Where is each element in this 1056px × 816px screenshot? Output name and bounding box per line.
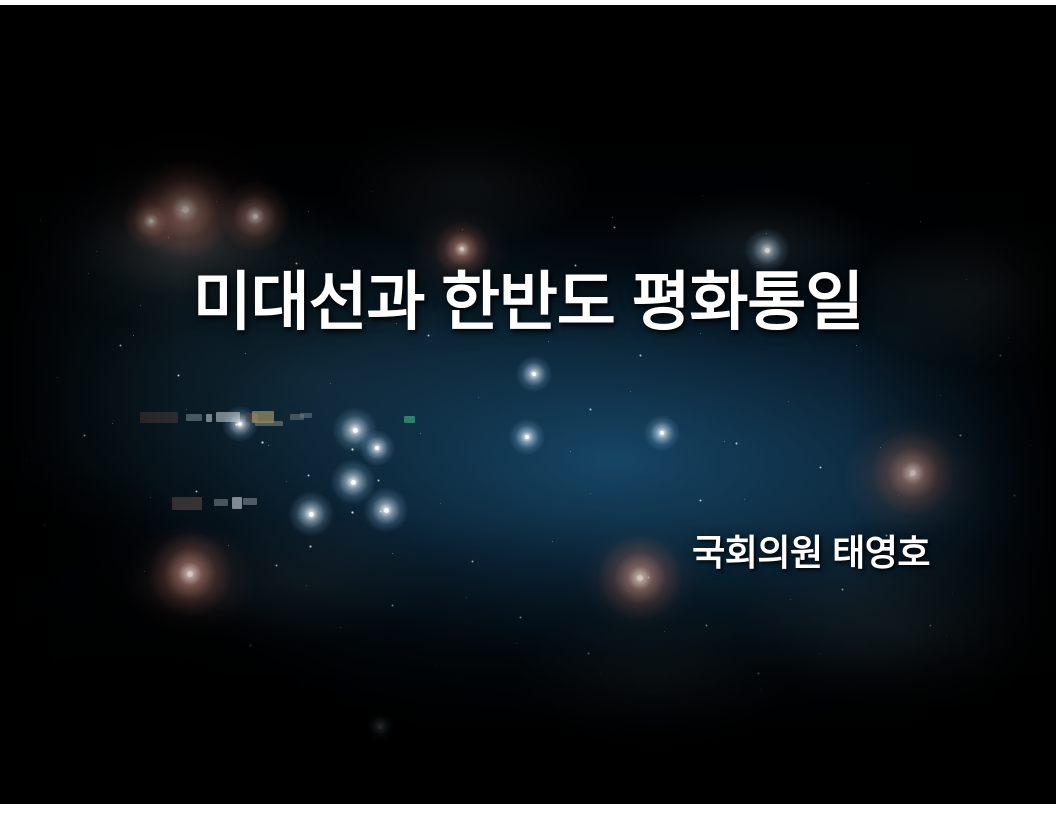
vignette-overlay (0, 5, 1056, 804)
slide-subtitle-speaker: 국회의원 태영호 (0, 529, 930, 577)
slide-canvas: 미대선과 한반도 평화통일 국회의원 태영호 (0, 5, 1056, 804)
slide-title: 미대선과 한반도 평화통일 (0, 260, 1056, 344)
